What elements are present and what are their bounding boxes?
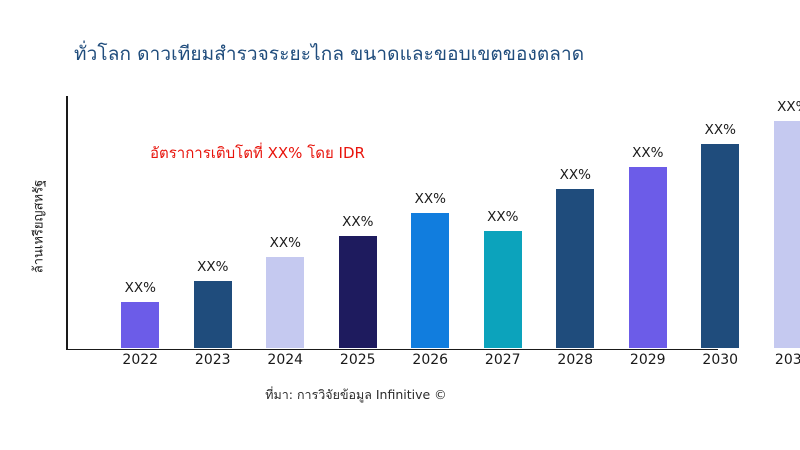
x-tick-label: 2029 xyxy=(630,352,666,368)
bar-value-label: XX% xyxy=(560,167,591,183)
bar-value-label: XX% xyxy=(705,122,736,138)
x-tick-label: 2023 xyxy=(195,352,231,368)
chart-screenshot: ทั่วโลก ดาวเทียมสำรวจระยะไกล ขนาดและขอบเ… xyxy=(0,0,800,450)
bar-group: XX%2031 xyxy=(757,94,800,348)
y-axis-label: ล้านเหรียญสหรัฐ xyxy=(28,127,49,327)
bar-group: XX%2027 xyxy=(467,94,540,348)
bar[interactable]: XX% xyxy=(121,302,159,348)
x-tick-label: 2031 xyxy=(775,352,800,368)
y-axis-line xyxy=(66,96,68,350)
source-note: ที่มา: การวิจัยข้อมูล Infinitive © xyxy=(0,385,712,405)
bar-value-label: XX% xyxy=(487,209,518,225)
x-axis-line xyxy=(66,349,718,351)
bar[interactable]: XX% xyxy=(339,236,377,348)
bar-value-label: XX% xyxy=(777,99,800,115)
x-tick-label: 2027 xyxy=(485,352,521,368)
bar-value-label: XX% xyxy=(270,235,301,251)
bar[interactable]: XX% xyxy=(484,231,522,348)
bar-value-label: XX% xyxy=(342,214,373,230)
bar-value-label: XX% xyxy=(197,259,228,275)
bar-group: XX%2023 xyxy=(177,94,250,348)
bar[interactable]: XX% xyxy=(774,121,800,348)
x-tick-label: 2026 xyxy=(412,352,448,368)
x-tick-label: 2030 xyxy=(702,352,738,368)
bar[interactable]: XX% xyxy=(629,167,667,348)
bar-group: XX%2029 xyxy=(612,94,685,348)
bar[interactable]: XX% xyxy=(556,189,594,348)
plot-area: XX%2022XX%2023XX%2024XX%2025XX%2026XX%20… xyxy=(66,96,786,350)
bar[interactable]: XX% xyxy=(701,144,739,348)
bar-group: XX%2026 xyxy=(394,94,467,348)
bar-group: XX%2024 xyxy=(249,94,322,348)
bar-group: XX%2028 xyxy=(539,94,612,348)
x-tick-label: 2024 xyxy=(267,352,303,368)
bar-value-label: XX% xyxy=(632,145,663,161)
x-tick-label: 2022 xyxy=(122,352,158,368)
bar-value-label: XX% xyxy=(415,191,446,207)
bar-group: XX%2022 xyxy=(104,94,177,348)
bar[interactable]: XX% xyxy=(266,257,304,348)
bar-value-label: XX% xyxy=(125,280,156,296)
bar-group: XX%2030 xyxy=(684,94,757,348)
bar[interactable]: XX% xyxy=(411,213,449,348)
bar[interactable]: XX% xyxy=(194,281,232,348)
page-title: ทั่วโลก ดาวเทียมสำรวจระยะไกล ขนาดและขอบเ… xyxy=(74,41,584,67)
x-tick-label: 2028 xyxy=(557,352,593,368)
bar-group: XX%2025 xyxy=(322,94,395,348)
x-tick-label: 2025 xyxy=(340,352,376,368)
